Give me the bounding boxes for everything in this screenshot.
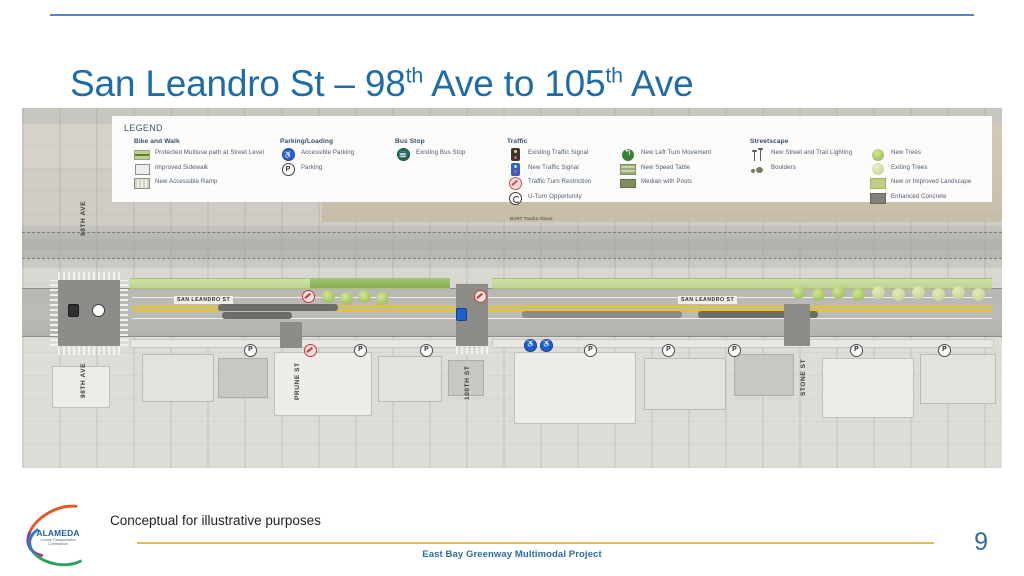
accessible-ramp-swatch-icon [134, 178, 150, 189]
title-ordinal-98: th [406, 63, 424, 87]
legend-column-traffic-continued: New Left Turn Movement New Speed Table M… [620, 138, 738, 193]
alameda-cte-logo: ALAMEDA County Transportation Commission [20, 506, 96, 564]
legend-item: New Left Turn Movement [620, 149, 738, 160]
existing-trees-icon [870, 164, 886, 175]
legend-item: U-Turn Opportunity [507, 193, 617, 204]
legend-item-label: Median with Posts [641, 178, 692, 186]
existing-tree-symbol [972, 288, 985, 301]
logo-subtitle: County Transportation Commission [20, 538, 96, 547]
legend-heading: LEGEND [124, 123, 163, 133]
bart-tracks-label: BART Tracks Above [510, 216, 553, 221]
parking-marker[interactable]: P [354, 344, 367, 357]
legend-column-traffic: Traffic Existing Traffic Signal New Traf… [507, 138, 617, 207]
street-label-prune-st: PRUNE ST [294, 362, 301, 400]
boulders-icon [750, 164, 766, 175]
existing-tree-symbol [912, 286, 925, 299]
legend-item-label: New Speed Table [641, 164, 690, 172]
legend-column-bus-stop: Bus Stop 🚍 Existing Bus Stop [395, 138, 495, 164]
street-label-98th-ave-lower: 98TH AVE [80, 363, 87, 398]
turn-restriction-marker[interactable] [302, 290, 315, 303]
bart-track-line [22, 258, 1002, 259]
legend-item: New Speed Table [620, 164, 738, 175]
title-part-main: San Leandro St – 98 [70, 63, 406, 104]
legend-item-label: Parking [301, 164, 322, 172]
legend-item-label: New Left Turn Movement [641, 149, 711, 157]
footer-project-title: East Bay Greenway Multimodal Project [0, 549, 1024, 560]
legend-item: New or Improved Landscape [870, 178, 1000, 189]
building-block [142, 354, 214, 402]
protected-multiuse-path [310, 278, 450, 289]
new-tree-symbol [812, 288, 825, 301]
legend-item: P Parking [280, 164, 390, 175]
logo-name: ALAMEDA [20, 528, 96, 538]
logo-subtitle-line2: Commission [20, 542, 96, 546]
title-part-mid: Ave to 105 [423, 63, 605, 104]
legend-item: New Street and Trail Lighting [750, 149, 870, 160]
turn-restriction-marker[interactable] [474, 290, 487, 303]
traffic-turn-restriction-icon [507, 178, 523, 189]
accessible-parking-marker[interactable]: ♿ [524, 339, 537, 352]
legend-item: ♿ Accessible Parking [280, 149, 390, 160]
legend-item-label: Existing Traffic Signal [528, 149, 588, 157]
footer-note: Conceptual for illustrative purposes [110, 513, 321, 528]
legend-column-parking-loading: Parking/Loading ♿ Accessible Parking P P… [280, 138, 390, 178]
crosswalk [58, 346, 120, 355]
legend-item: Boulders [750, 164, 870, 175]
legend-item: Existing Traffic Signal [507, 149, 617, 160]
improved-sidewalk [492, 339, 994, 348]
protected-multiuse-path [130, 278, 310, 289]
parking-marker[interactable]: P [850, 344, 863, 357]
legend-header-parking-loading: Parking/Loading [280, 138, 390, 145]
street-trail-lighting-icon [750, 149, 766, 160]
median-with-posts [222, 312, 292, 319]
legend-item: 🚍 Existing Bus Stop [395, 149, 495, 160]
legend-item-label: Traffic Turn Restriction [528, 178, 591, 186]
intersection-stone-st [784, 304, 810, 346]
median-with-posts [522, 311, 682, 318]
legend-header-traffic: Traffic [507, 138, 617, 145]
legend-item-label: New Street and Trail Lighting [771, 149, 852, 157]
legend-item-label: Exiting Trees [891, 164, 928, 172]
parking-marker[interactable]: P [728, 344, 741, 357]
legend-item: New Accessible Ramp [134, 178, 274, 189]
road-label-san-leandro: SAN LEANDRO ST [678, 296, 737, 304]
new-tree-symbol [832, 286, 845, 299]
crosswalk [456, 346, 488, 354]
turn-restriction-marker[interactable] [304, 344, 317, 357]
new-speed-table-swatch-icon [620, 164, 636, 175]
legend-item-label: New or Improved Landscape [891, 178, 971, 186]
building-block [644, 358, 726, 410]
median-with-posts-swatch-icon [620, 178, 636, 189]
footer-divider [137, 542, 934, 544]
title-part-end: Ave [623, 63, 694, 104]
bus-stop-icon: 🚍 [395, 149, 411, 160]
legend-header-bike-and-walk: Bike and Walk [134, 138, 274, 145]
legend-header-blank [870, 138, 1000, 145]
corridor-map[interactable]: BART Tracks Above SAN LEANDRO ST SAN LEA… [22, 108, 1002, 468]
new-landscape-swatch-icon [870, 178, 886, 189]
legend-item: Median with Posts [620, 178, 738, 189]
legend-item-label: U-Turn Opportunity [528, 193, 582, 201]
bart-guideway [22, 232, 1002, 258]
legend-item-label: Improved Sidewalk [155, 164, 208, 172]
legend-item: Exiting Trees [870, 164, 1000, 175]
new-tree-symbol [358, 290, 371, 303]
legend-column-bike-and-walk: Bike and Walk Protected Multiuse path at… [134, 138, 274, 193]
crosswalk [120, 280, 128, 346]
existing-traffic-signal-icon [507, 149, 523, 160]
roadway-edge [22, 336, 1002, 337]
building-block [734, 354, 794, 396]
legend-item: New Trees [870, 149, 1000, 160]
parking-icon: P [280, 164, 296, 175]
median-with-posts [218, 304, 338, 311]
legend-item-label: Existing Bus Stop [416, 149, 465, 157]
street-label-98th-ave-upper: 98TH AVE [80, 201, 87, 236]
parking-marker[interactable]: P [662, 344, 675, 357]
parking-marker[interactable]: P [420, 344, 433, 357]
page-number: 9 [974, 528, 988, 557]
street-label-stone-st: STONE ST [800, 359, 807, 396]
legend-item-label: New Accessible Ramp [155, 178, 218, 186]
title-ordinal-105: th [605, 63, 623, 87]
building-block [218, 358, 268, 398]
protected-path-swatch-icon [134, 149, 150, 160]
legend-item-label: New Traffic Signal [528, 164, 579, 172]
enhanced-concrete-swatch-icon [870, 193, 886, 204]
parking-marker[interactable]: P [938, 344, 951, 357]
legend-header-bus-stop: Bus Stop [395, 138, 495, 145]
existing-tree-symbol [932, 288, 945, 301]
existing-traffic-signal-marker[interactable] [68, 304, 79, 317]
existing-tree-symbol [872, 286, 885, 299]
new-tree-symbol [792, 286, 805, 299]
building-block [822, 358, 914, 418]
legend-item: Enhanced Concrete [870, 193, 1000, 204]
new-traffic-signal-icon [507, 164, 523, 175]
building-block [514, 352, 636, 424]
legend-item-label: Boulders [771, 164, 796, 172]
legend-header-blank [620, 138, 738, 145]
legend-item-label: Protected Multiuse path at Street Level [155, 149, 264, 157]
parking-marker[interactable]: P [584, 344, 597, 357]
legend-item-label: Enhanced Concrete [891, 193, 947, 201]
bart-track-line [22, 232, 1002, 233]
street-label-100th-st: 100TH ST [464, 366, 471, 400]
accessible-parking-marker[interactable]: ♿ [540, 339, 553, 352]
building-block [920, 354, 996, 404]
crosswalk [50, 280, 58, 346]
legend-item: New Traffic Signal [507, 164, 617, 175]
new-traffic-signal-marker[interactable] [456, 308, 467, 321]
legend-item-label: Accessible Parking [301, 149, 354, 157]
accessible-parking-icon: ♿ [280, 149, 296, 160]
new-tree-symbol [322, 290, 335, 303]
map-legend-panel: LEGEND Bike and Walk Protected Multiuse … [112, 116, 992, 202]
legend-item: Protected Multiuse path at Street Level [134, 149, 274, 160]
u-turn-opportunity-icon [507, 193, 523, 204]
header-divider [50, 14, 974, 16]
legend-header-streetscape: Streetscape [750, 138, 870, 145]
legend-column-streetscape-continued: New Trees Exiting Trees New or Improved … [870, 138, 1000, 207]
legend-item: Improved Sidewalk [134, 164, 274, 175]
existing-tree-symbol [952, 286, 965, 299]
u-turn-opportunity-marker[interactable] [92, 304, 105, 317]
crosswalk [58, 272, 120, 280]
parking-marker[interactable]: P [244, 344, 257, 357]
new-tree-symbol [376, 292, 389, 305]
intersection-prune-st [280, 322, 302, 348]
improved-sidewalk-swatch-icon [134, 164, 150, 175]
new-trees-icon [870, 149, 886, 160]
new-left-turn-movement-icon [620, 149, 636, 160]
new-tree-symbol [852, 288, 865, 301]
page-title: San Leandro St – 98th Ave to 105th Ave [70, 63, 693, 105]
building-block [274, 352, 372, 416]
new-tree-symbol [340, 292, 353, 305]
legend-column-streetscape: Streetscape New Street and Trail Lightin… [750, 138, 870, 178]
legend-item: Traffic Turn Restriction [507, 178, 617, 189]
existing-tree-symbol [892, 288, 905, 301]
legend-item-label: New Trees [891, 149, 921, 157]
building-block [378, 356, 442, 402]
road-label-san-leandro: SAN LEANDRO ST [174, 296, 233, 304]
